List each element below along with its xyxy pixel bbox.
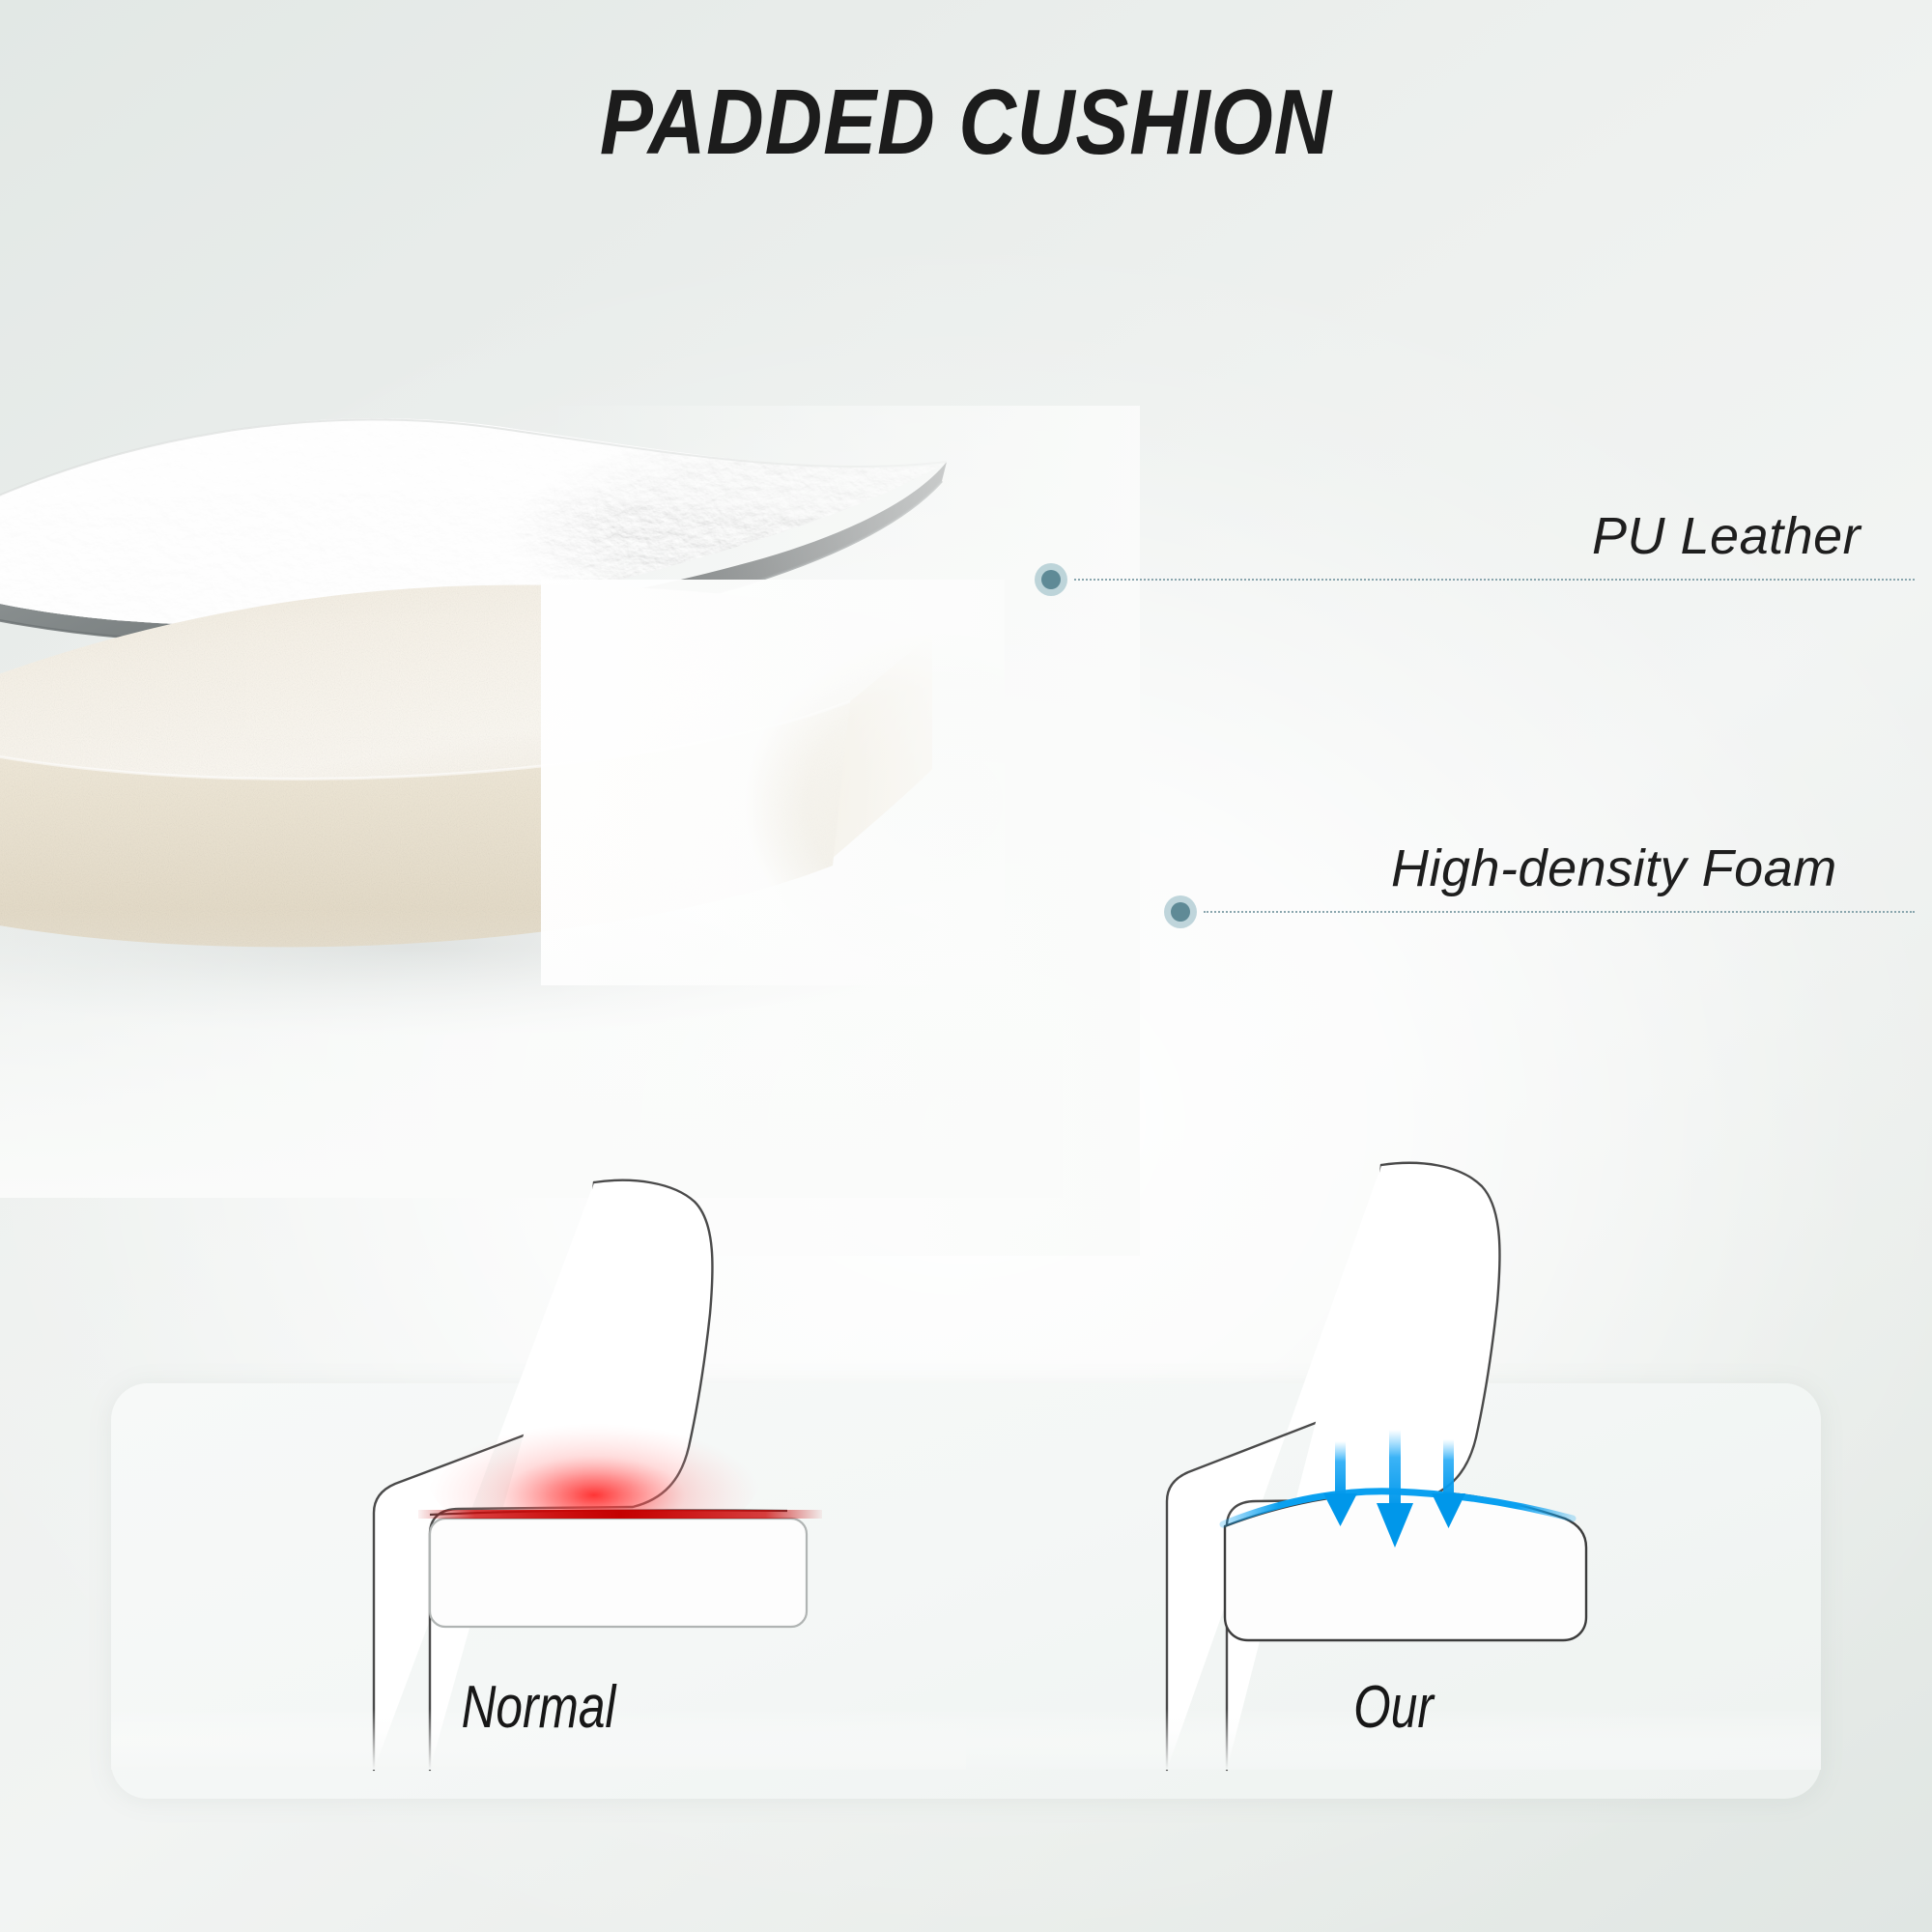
page-title: PADDED CUSHION <box>135 70 1797 176</box>
normal-posture-illustration <box>111 1094 966 1770</box>
our-posture-illustration <box>966 1094 1821 1770</box>
callout-dot-high-density-foam <box>1164 895 1197 928</box>
callout-label-high-density-foam: High-density Foam <box>1391 838 1837 898</box>
callout-leader-high-density-foam <box>1204 911 1915 913</box>
comparison-card: Normal <box>111 1383 1821 1799</box>
comparison-panel-normal: Normal <box>111 1383 966 1799</box>
callout-label-pu-leather: PU Leather <box>1592 506 1861 566</box>
pressure-line-normal <box>418 1510 822 1519</box>
callout-leader-pu-leather <box>1074 579 1915 581</box>
callout-dot-pu-leather <box>1035 563 1067 596</box>
panel-label-normal: Normal <box>197 1673 881 1742</box>
comparison-panel-our: Our <box>966 1383 1821 1799</box>
panel-label-our: Our <box>1052 1673 1736 1742</box>
infographic-canvas: PADDED CUSHION <box>0 0 1932 1932</box>
flat-cushion-normal <box>430 1519 807 1627</box>
